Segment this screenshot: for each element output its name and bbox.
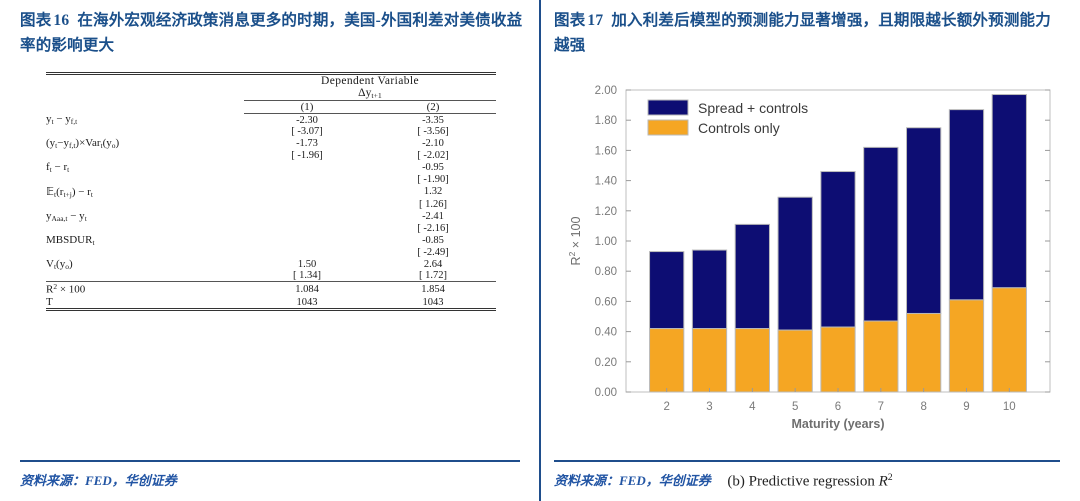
bottom-rule-3 (370, 310, 496, 313)
regression-table-container: Dependent VariableΔyt+1(1)(2)yt − yf,t-2… (46, 72, 496, 313)
y-tick-label: 1.40 (595, 176, 617, 188)
column-header-spacer (46, 100, 244, 113)
row-value-2: -0.95 (370, 161, 496, 174)
x-tick-label: 8 (920, 401, 926, 413)
table-row: [ -2.16] (46, 223, 496, 234)
x-tick-label: 9 (963, 401, 969, 413)
bar-navy-9 (949, 110, 983, 300)
right-figure-title: 图表17加入利差后模型的预测能力显著增强，且期限越长额外预测能力越强 (540, 0, 1080, 58)
row-label: 𝔼t(rt+j) − rt (46, 185, 244, 199)
row-value-1: -1.73 (244, 137, 370, 150)
x-axis-title: Maturity (years) (791, 417, 884, 431)
row-label: MBSDURt (46, 234, 244, 247)
row-label (46, 174, 244, 185)
table-row: Vt(yo)1.502.64 (46, 258, 496, 271)
y-tick-label: 1.00 (595, 236, 617, 248)
bottom-rule-2 (244, 310, 370, 313)
left-figure-title: 图表16在海外宏观经济政策消息更多的时期，美国-外国利差对美债收益率的影响更大 (0, 0, 540, 58)
row-value-2: -0.85 (370, 234, 496, 247)
bar-orange-4 (735, 329, 769, 392)
row-label (46, 199, 244, 210)
left-footer: 资料来源：FED，华创证券 (0, 460, 540, 501)
y-tick-label: 1.20 (595, 206, 617, 218)
table-row: MBSDURt-0.85 (46, 234, 496, 247)
bar-navy-8 (907, 128, 941, 314)
y-tick-label: 1.60 (595, 145, 617, 157)
row-value-2: [ 1.26] (370, 199, 496, 210)
x-tick-label: 3 (706, 401, 712, 413)
left-source-note: 资料来源：FED，华创证券 (20, 462, 540, 501)
report-page: 图表16在海外宏观经济政策消息更多的时期，美国-外国利差对美债收益率的影响更大 … (0, 0, 1080, 501)
dependent-variable-header: Dependent Variable (244, 74, 496, 88)
regression-table: Dependent VariableΔyt+1(1)(2)yt − yf,t-2… (46, 72, 496, 313)
row-value-1: [ 1.34] (244, 270, 370, 282)
stacked-bar-chart-svg: 0.000.200.400.600.801.001.201.401.601.80… (554, 68, 1066, 468)
table-row: [ -2.49] (46, 247, 496, 258)
row-value-1: 1.50 (244, 258, 370, 271)
legend-swatch-spread (648, 100, 688, 115)
left-title-text: 在海外宏观经济政策消息更多的时期，美国-外国利差对美债收益率的影响更大 (20, 12, 522, 54)
right-source-note: 资料来源：FED，华创证券 (554, 462, 1080, 501)
bar-orange-6 (821, 327, 855, 392)
predictive-r2-chart: 0.000.200.400.600.801.001.201.401.601.80… (554, 68, 1066, 438)
y-tick-label: 1.80 (595, 115, 617, 127)
stat-value-2: 1043 (370, 296, 496, 310)
right-title-text: 加入利差后模型的预测能力显著增强，且期限越长额外预测能力越强 (554, 12, 1051, 54)
y-tick-label: 0.40 (595, 327, 617, 339)
row-label: (yt−yf,t)×Vart(yo) (46, 137, 244, 150)
x-tick-label: 2 (663, 401, 669, 413)
table-header-group-row: Dependent Variable (46, 74, 496, 88)
row-value-2: 2.64 (370, 258, 496, 271)
table-row: yt − yf,t-2.30-3.35 (46, 113, 496, 126)
stat-value-2: 1.854 (370, 282, 496, 296)
row-label: yAaa,t − yt (46, 210, 244, 223)
header-spacer (46, 74, 244, 88)
bar-navy-2 (650, 252, 684, 329)
table-bottom-rule-row (46, 310, 496, 313)
table-row: (yt−yf,t)×Vart(yo)-1.73-2.10 (46, 137, 496, 150)
left-panel: 图表16在海外宏观经济政策消息更多的时期，美国-外国利差对美债收益率的影响更大 … (0, 0, 540, 501)
row-value-2: [ -2.16] (370, 223, 496, 234)
row-value-1 (244, 199, 370, 210)
bar-navy-6 (821, 172, 855, 328)
stat-label: R2 × 100 (46, 282, 244, 296)
row-label (46, 150, 244, 161)
row-value-1: [ -1.96] (244, 150, 370, 161)
bar-orange-8 (907, 313, 941, 392)
row-label: Vt(yo) (46, 258, 244, 271)
bar-navy-7 (864, 147, 898, 321)
row-value-1 (244, 234, 370, 247)
y-tick-label: 0.80 (595, 266, 617, 278)
depvar-spacer (46, 87, 244, 100)
column-header-1: (1) (244, 100, 370, 113)
y-tick-label: 0.00 (595, 387, 617, 399)
row-value-2: -2.41 (370, 210, 496, 223)
bar-orange-9 (949, 300, 983, 392)
row-label: ft − rt (46, 161, 244, 174)
row-value-1: [ -3.07] (244, 126, 370, 137)
row-label (46, 126, 244, 137)
table-row: [ 1.26] (46, 199, 496, 210)
row-value-1 (244, 223, 370, 234)
row-value-2: [ 1.72] (370, 270, 496, 282)
row-label (46, 223, 244, 234)
row-value-1 (244, 161, 370, 174)
x-tick-label: 7 (878, 401, 884, 413)
bar-navy-4 (735, 224, 769, 328)
x-tick-label: 10 (1003, 401, 1016, 413)
bar-navy-5 (778, 197, 812, 330)
table-row: [ -1.90] (46, 174, 496, 185)
right-panel: 图表17加入利差后模型的预测能力显著增强，且期限越长额外预测能力越强 0.000… (540, 0, 1080, 501)
bar-orange-7 (864, 321, 898, 392)
bar-orange-10 (992, 288, 1026, 392)
right-title-number: 17 (585, 12, 611, 29)
table-row: 𝔼t(rt+j) − rt1.32 (46, 185, 496, 199)
x-tick-label: 6 (835, 401, 841, 413)
row-value-1 (244, 210, 370, 223)
bar-orange-3 (692, 329, 726, 392)
row-value-2: -3.35 (370, 113, 496, 126)
row-value-2: [ -2.02] (370, 150, 496, 161)
legend-label-controls: Controls only (698, 120, 780, 136)
y-tick-label: 0.60 (595, 296, 617, 308)
bar-orange-5 (778, 330, 812, 392)
table-depvar-row: Δyt+1 (46, 87, 496, 100)
bar-orange-2 (650, 329, 684, 392)
row-value-1: -2.30 (244, 113, 370, 126)
table-row: [ -1.96][ -2.02] (46, 150, 496, 161)
row-label (46, 270, 244, 282)
row-value-2: [ -1.90] (370, 174, 496, 185)
row-value-2: 1.32 (370, 185, 496, 199)
table-row: [ 1.34][ 1.72] (46, 270, 496, 282)
left-title-number: 16 (51, 12, 77, 29)
table-row: [ -3.07][ -3.56] (46, 126, 496, 137)
table-row: yAaa,t − yt-2.41 (46, 210, 496, 223)
row-label (46, 247, 244, 258)
left-title-prefix: 图表 (20, 12, 51, 29)
stat-value-1: 1.084 (244, 282, 370, 296)
row-label: yt − yf,t (46, 113, 244, 126)
column-header-2: (2) (370, 100, 496, 113)
table-column-header-row: (1)(2) (46, 100, 496, 113)
row-value-1 (244, 185, 370, 199)
row-value-2: -2.10 (370, 137, 496, 150)
table-stat-row: T10431043 (46, 296, 496, 310)
y-tick-label: 2.00 (595, 85, 617, 97)
table-row: ft − rt-0.95 (46, 161, 496, 174)
x-tick-label: 5 (792, 401, 798, 413)
row-value-1 (244, 174, 370, 185)
stat-value-1: 1043 (244, 296, 370, 310)
bar-navy-10 (992, 95, 1026, 288)
right-footer: 资料来源：FED，华创证券 (540, 460, 1080, 501)
bar-navy-3 (692, 250, 726, 329)
bottom-rule-1 (46, 310, 244, 313)
legend-swatch-controls (648, 120, 688, 135)
right-title-prefix: 图表 (554, 12, 585, 29)
y-axis-title: R2 × 100 (567, 217, 583, 266)
table-stat-row: R2 × 1001.0841.854 (46, 282, 496, 296)
row-value-1 (244, 247, 370, 258)
stat-label: T (46, 296, 244, 310)
row-value-2: [ -3.56] (370, 126, 496, 137)
y-tick-label: 0.20 (595, 357, 617, 369)
x-tick-label: 4 (749, 401, 756, 413)
row-value-2: [ -2.49] (370, 247, 496, 258)
depvar-symbol: Δyt+1 (244, 87, 496, 100)
legend-label-spread: Spread + controls (698, 100, 808, 116)
